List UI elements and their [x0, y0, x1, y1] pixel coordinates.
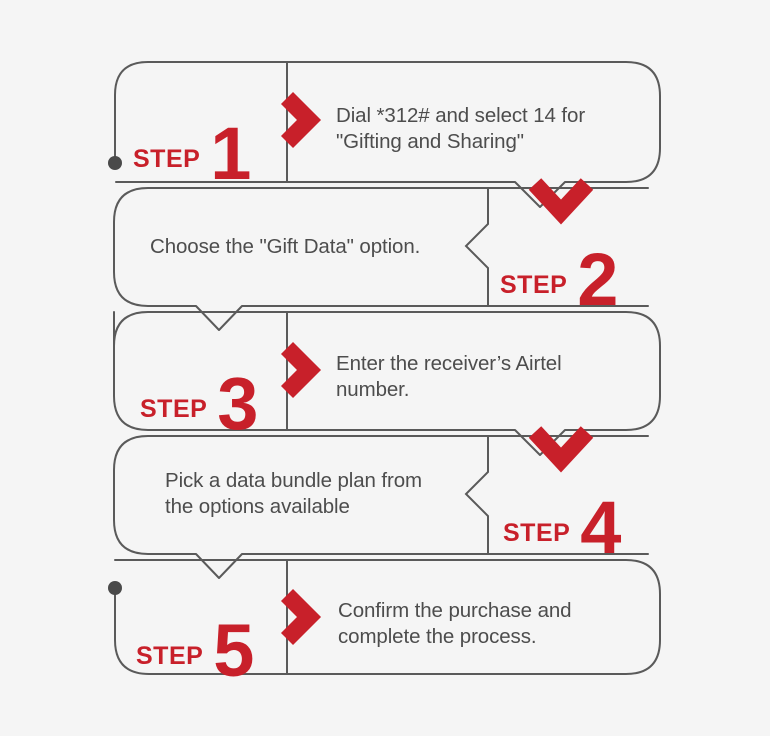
step-description-4: Pick a data bundle plan from the options…: [165, 468, 475, 520]
step-description-3: Enter the receiver’s Airtel number.: [336, 351, 626, 403]
labels-layer: STEP 1 Dial *312# and select 14 for "Gif…: [0, 0, 770, 736]
step-word-2: STEP: [500, 273, 567, 298]
step-word-5: STEP: [136, 644, 203, 669]
infographic-canvas: STEP 1 Dial *312# and select 14 for "Gif…: [0, 0, 770, 736]
step-description-4-line-2: the options available: [165, 495, 350, 518]
step-description-1-line-1: Dial *312# and select 14 for: [336, 104, 585, 127]
step-description-5-line-1: Confirm the purchase and: [338, 599, 571, 622]
step-badge-4: STEP 4: [503, 479, 621, 553]
step-number-1: 1: [210, 117, 251, 191]
step-description-2: Choose the "Gift Data" option.: [150, 234, 470, 260]
step-description-3-line-1: Enter the receiver’s Airtel: [336, 352, 562, 375]
step-word-4: STEP: [503, 521, 570, 546]
step-description-1: Dial *312# and select 14 for "Gifting an…: [336, 103, 626, 155]
step-description-2-line-1: Choose the "Gift Data" option.: [150, 235, 420, 258]
step-description-5: Confirm the purchase and complete the pr…: [338, 598, 628, 650]
step-number-5: 5: [213, 614, 254, 688]
step-number-3: 3: [217, 367, 258, 441]
step-word-3: STEP: [140, 397, 207, 422]
step-description-3-line-2: number.: [336, 378, 409, 401]
step-badge-2: STEP 2: [500, 231, 618, 305]
step-badge-1: STEP 1: [133, 105, 251, 179]
step-description-4-line-1: Pick a data bundle plan from: [165, 469, 422, 492]
step-description-1-line-2: "Gifting and Sharing": [336, 130, 524, 153]
step-badge-5: STEP 5: [136, 602, 254, 676]
step-badge-3: STEP 3: [140, 355, 258, 429]
step-word-1: STEP: [133, 147, 200, 172]
step-number-2: 2: [577, 243, 618, 317]
step-description-5-line-2: complete the process.: [338, 625, 536, 648]
step-number-4: 4: [580, 491, 621, 565]
